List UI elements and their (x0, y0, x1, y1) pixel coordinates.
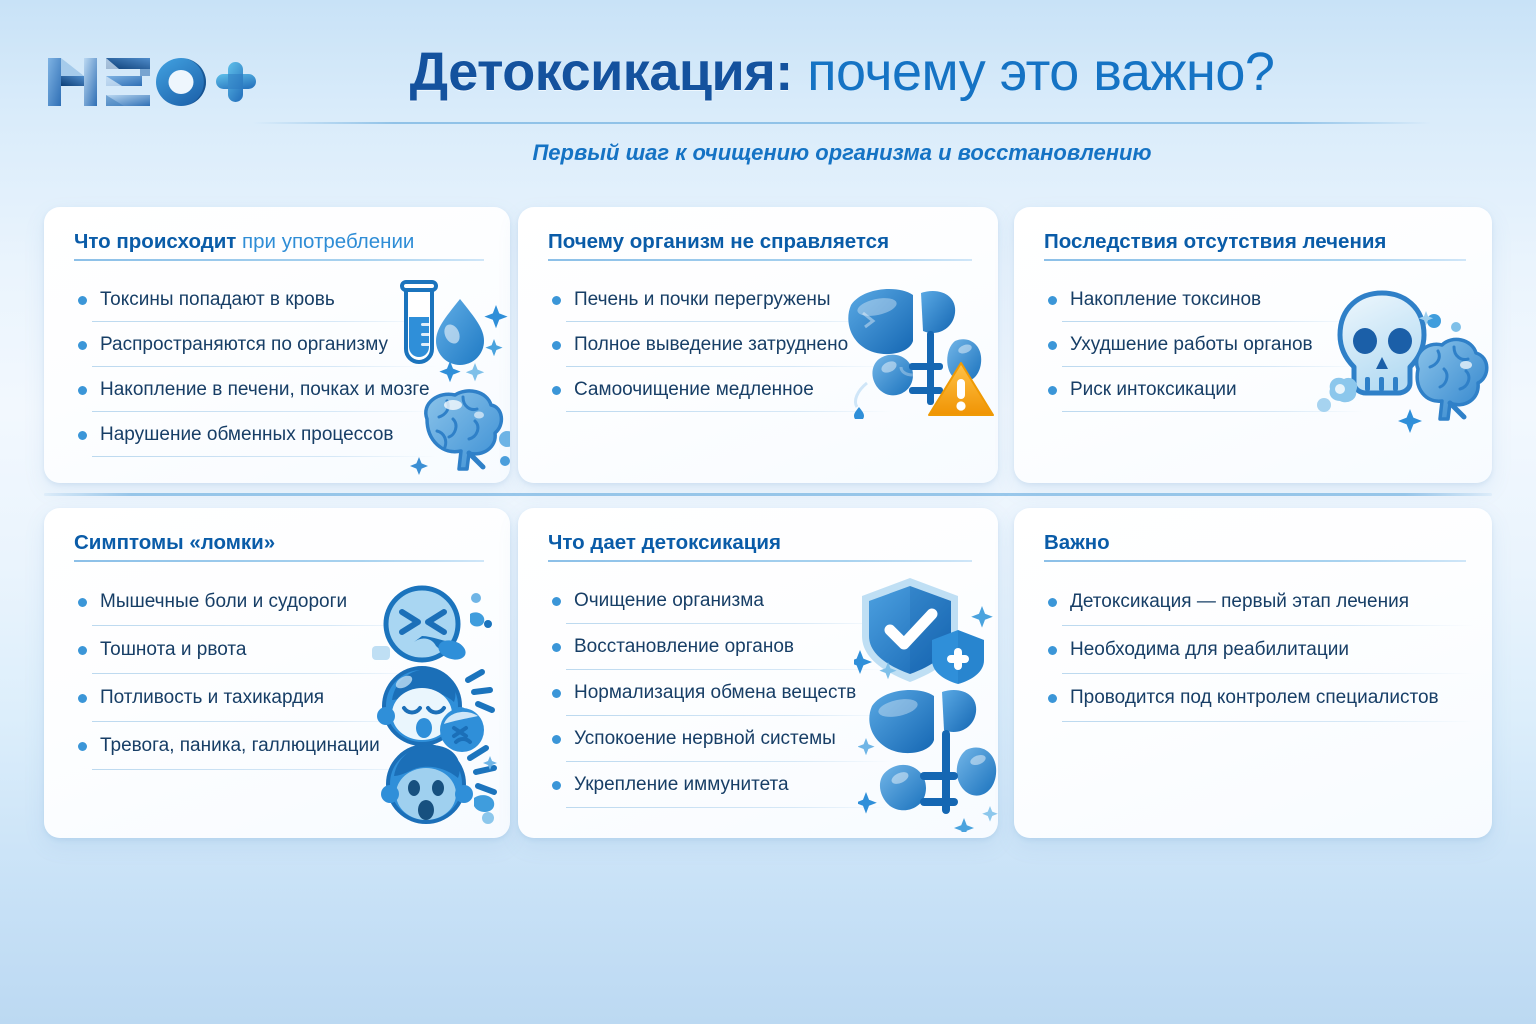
bullet-list: Печень и почки перегружены Полное выведе… (548, 277, 978, 412)
bullet-dot-icon (78, 742, 87, 751)
bullet-dot-icon (552, 386, 561, 395)
page-title-light: почему это важно? (793, 42, 1275, 102)
card-withdrawal-symptoms: Симптомы «ломки» Мышечные боли и судорог… (44, 508, 510, 838)
page-subtitle: Первый шаг к очищению организма и восста… (252, 140, 1432, 166)
bullet-dot-icon (1048, 296, 1057, 305)
list-item-label: Детоксикация — первый этап лечения (1070, 591, 1409, 612)
list-item: Накопление токсинов (1044, 277, 1472, 322)
bullet-dot-icon (552, 735, 561, 744)
bullet-dot-icon (1048, 598, 1057, 607)
list-item-label: Ухудшение работы органов (1070, 334, 1313, 355)
bullet-list: Детоксикация — первый этап лечения Необх… (1044, 578, 1472, 722)
list-item-label: Полное выведение затруднено (574, 334, 848, 355)
list-item: Самоочищение медленное (548, 367, 978, 412)
card-title: Почему организм не справляется (548, 229, 972, 255)
list-item: Детоксикация — первый этап лечения (1044, 578, 1472, 626)
list-item: Полное выведение затруднено (548, 322, 978, 367)
bullet-dot-icon (1048, 694, 1057, 703)
bullet-list: Накопление токсинов Ухудшение работы орг… (1044, 277, 1472, 412)
item-underline (1062, 411, 1364, 412)
card-title: Последствия отсутствия лечения (1044, 229, 1466, 255)
card-consequences: Последствия отсутствия лечения Накоплени… (1014, 207, 1492, 483)
list-item-label: Мышечные боли и судороги (100, 591, 347, 612)
bullet-dot-icon (552, 341, 561, 350)
item-underline (1062, 721, 1474, 722)
bullet-dot-icon (552, 597, 561, 606)
card-title: Что происходит при употреблении (74, 229, 484, 255)
list-item: Восстановление органов (548, 624, 978, 670)
list-item: Токсины попадают в кровь (74, 277, 490, 322)
list-item-label: Токсины попадают в кровь (100, 289, 335, 310)
list-item: Успокоение нервной системы (548, 716, 978, 762)
list-item: Проводится под контролем специалистов (1044, 674, 1472, 722)
list-item: Тревога, паника, галлюцинации (74, 722, 490, 770)
list-item: Очищение организма (548, 578, 978, 624)
card-title-divider (74, 259, 484, 261)
list-item: Риск интоксикации (1044, 367, 1472, 412)
list-item-label: Укрепление иммунитета (574, 774, 789, 795)
list-item: Накопление в печени, почках и мозге (74, 367, 490, 412)
bullet-dot-icon (552, 296, 561, 305)
page-header: Детоксикация: почему это важно? Первый ш… (0, 0, 1536, 190)
list-item-label: Самоочищение медленное (574, 379, 814, 400)
list-item-label: Необходима для реабилитации (1070, 639, 1349, 660)
list-item: Нарушение обменных процессов (74, 412, 490, 457)
card-why-body-fails: Почему организм не справляется Печень и … (518, 207, 998, 483)
bullet-dot-icon (552, 689, 561, 698)
card-title-strong: Почему организм не справляется (548, 230, 889, 253)
bullet-dot-icon (552, 643, 561, 652)
item-underline (566, 807, 891, 808)
list-item-label: Успокоение нервной системы (574, 728, 836, 749)
bullet-dot-icon (1048, 646, 1057, 655)
bullet-dot-icon (78, 694, 87, 703)
list-item-label: Тревога, паника, галлюцинации (100, 735, 380, 756)
list-item-label: Нарушение обменных процессов (100, 424, 394, 445)
bullet-list: Мышечные боли и судороги Тошнота и рвота… (74, 578, 490, 770)
list-item-label: Печень и почки перегружены (574, 289, 831, 310)
card-detox-benefits: Что дает детоксикация Очищение организма… (518, 508, 998, 838)
list-item-label: Накопление токсинов (1070, 289, 1261, 310)
bullet-list: Очищение организма Восстановление органо… (548, 578, 978, 808)
bullet-dot-icon (1048, 386, 1057, 395)
card-title: Важно (1044, 530, 1466, 556)
item-underline (566, 411, 891, 412)
card-title-strong: Что происходит (74, 230, 236, 253)
card-title-divider (1044, 560, 1466, 562)
bullet-dot-icon (78, 386, 87, 395)
list-item: Укрепление иммунитета (548, 762, 978, 808)
bullet-dot-icon (1048, 341, 1057, 350)
title-divider (252, 122, 1432, 124)
neo-plus-logo (44, 42, 256, 112)
list-item-label: Распространяются по организму (100, 334, 388, 355)
list-item-label: Проводится под контролем специалистов (1070, 687, 1439, 708)
list-item-label: Нормализация обмена веществ (574, 682, 856, 703)
list-item-label: Тошнота и рвота (100, 639, 246, 660)
item-underline (92, 769, 432, 770)
card-title-strong: Симптомы «ломки» (74, 531, 275, 554)
card-title-divider (548, 259, 972, 261)
list-item-label: Восстановление органов (574, 636, 794, 657)
list-item-label: Очищение организма (574, 590, 764, 611)
card-title-strong: Что дает детоксикация (548, 531, 781, 554)
card-title-light: при употреблении (236, 230, 414, 253)
list-item: Потливость и тахикардия (74, 674, 490, 722)
row-divider (44, 493, 1492, 496)
card-title: Симптомы «ломки» (74, 530, 484, 556)
bullet-list: Токсины попадают в кровь Распространяютс… (74, 277, 490, 457)
list-item: Нормализация обмена веществ (548, 670, 978, 716)
page-title-strong: Детоксикация: (410, 42, 793, 102)
card-title-divider (74, 560, 484, 562)
bullet-dot-icon (78, 598, 87, 607)
list-item-label: Риск интоксикации (1070, 379, 1237, 400)
bullet-dot-icon (78, 431, 87, 440)
card-title-divider (548, 560, 972, 562)
list-item: Печень и почки перегружены (548, 277, 978, 322)
bullet-dot-icon (78, 296, 87, 305)
list-item: Распространяются по организму (74, 322, 490, 367)
list-item: Необходима для реабилитации (1044, 626, 1472, 674)
card-title: Что дает детоксикация (548, 530, 972, 556)
page-title: Детоксикация: почему это важно? (252, 40, 1432, 104)
card-what-happens: Что происходит при употреблении Токсины … (44, 207, 510, 483)
card-title-divider (1044, 259, 1466, 261)
list-item: Тошнота и рвота (74, 626, 490, 674)
card-title-strong: Последствия отсутствия лечения (1044, 230, 1386, 253)
list-item-label: Потливость и тахикардия (100, 687, 324, 708)
bullet-dot-icon (552, 781, 561, 790)
list-item: Ухудшение работы органов (1044, 322, 1472, 367)
list-item-label: Накопление в печени, почках и мозге (100, 379, 430, 400)
card-title-strong: Важно (1044, 531, 1110, 554)
card-important: Важно Детоксикация — первый этап лечения… (1014, 508, 1492, 838)
list-item: Мышечные боли и судороги (74, 578, 490, 626)
bullet-dot-icon (78, 646, 87, 655)
item-underline (92, 456, 437, 457)
bullet-dot-icon (78, 341, 87, 350)
